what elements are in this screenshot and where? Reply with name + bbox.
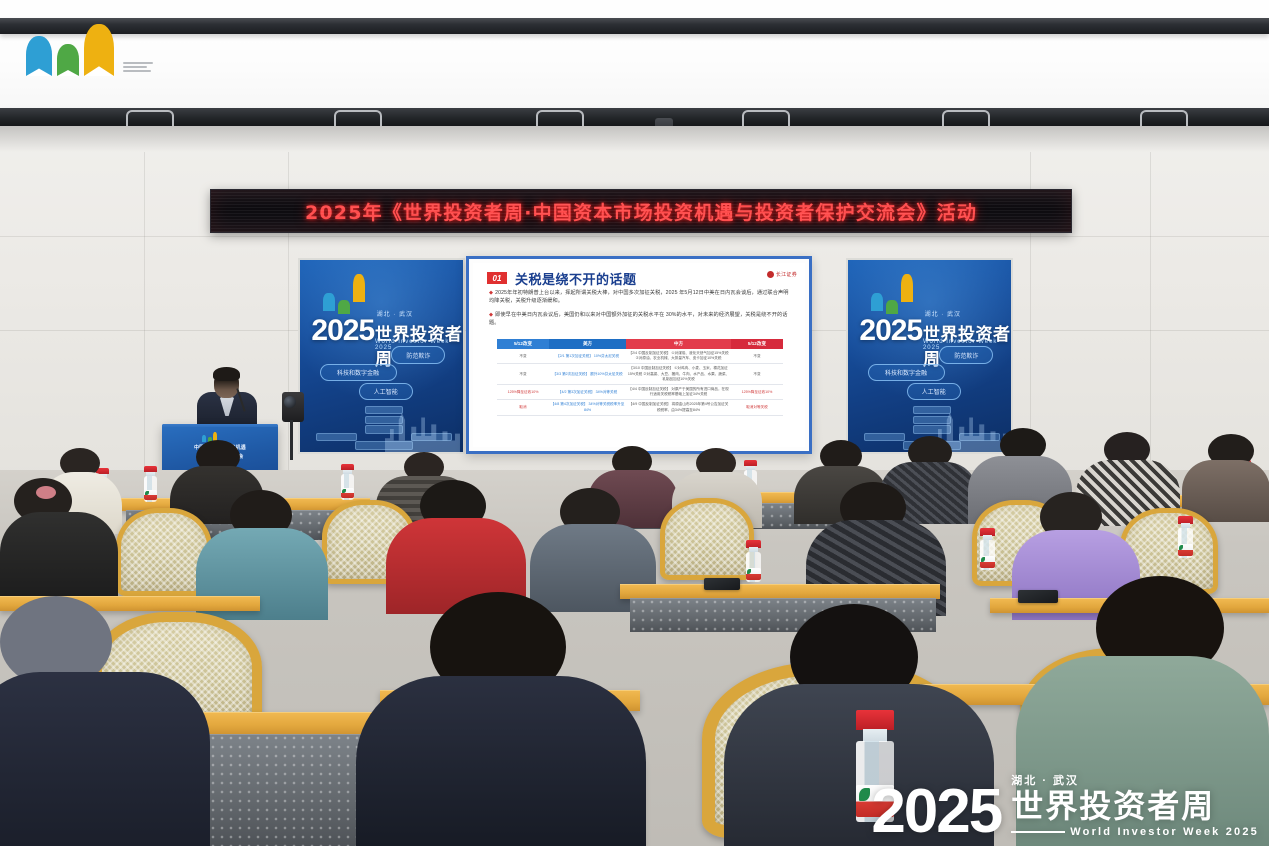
- slide-bullet-text: 即使早在中美日内瓦会议后，美国仍和以来对中国额外加征的关税水平在 30%的水平，…: [489, 312, 788, 326]
- camera-lens-icon: [284, 396, 296, 408]
- table-row: 取消【4/8 第4次加征关税】 34%对等关税税率升至84%【4/9 中国反制加…: [497, 400, 783, 415]
- slide-canvas: 01 关税是绕不开的话题 长江证券 ◆2025年年初特朗普上台以来，挥起所谓关税…: [473, 263, 805, 447]
- ceiling: [0, 0, 1269, 108]
- side-panel-pill: 科技和数字金融: [320, 364, 397, 381]
- table-cell: 【2/4 中国反制加征关税】 ①对煤炭、液化天然气加征15%关税 ②对原油、农业…: [626, 349, 731, 364]
- logo-pillar-blue-icon: [26, 36, 52, 76]
- conference-photo: 2025年《世界投资者周·中国资本市场投资机遇与投资者保护交流会》活动 湖北 ·…: [0, 0, 1269, 846]
- watermark-rule: [1011, 831, 1065, 833]
- table-col-header: 中方: [626, 339, 731, 349]
- conference-table: [188, 712, 388, 735]
- water-bottle: [144, 466, 157, 502]
- diamond-bullet-icon: ◆: [489, 290, 493, 296]
- table-cell: 不变: [731, 349, 783, 364]
- event-watermark: 2025 湖北 · 武汉 世界投资者周 World Investor Week …: [871, 772, 1259, 838]
- hair-clip-icon: [36, 486, 56, 499]
- table-cell: 【3/10 中国反制加征关税】 ①对鸡肉、小麦、玉米、棉花加征15%关税 ②对高…: [626, 364, 731, 385]
- table-cell: 【4/2 第3次加征关税】 34%对等关税: [549, 385, 626, 400]
- slide-comparison-table: 5/12改变 美方 中方 5/12改变 不变【2/1 第1次加征关税】 10%芬…: [497, 339, 783, 416]
- side-panel-pill: 人工智能: [907, 383, 961, 400]
- side-panel-pill: 防范欺诈: [939, 346, 993, 363]
- side-panel-year: 2025: [859, 316, 922, 346]
- brand-logo: [26, 24, 153, 76]
- water-bottle: [341, 464, 354, 500]
- watermark-text-group: 湖北 · 武汉 世界投资者周 World Investor Week 2025: [1011, 772, 1259, 838]
- wiw-logo-icon: [871, 270, 926, 301]
- bottle-body: [980, 540, 995, 570]
- water-bottle: [980, 528, 995, 570]
- ceiling-truss-lower: [0, 108, 1269, 126]
- side-panel-pill: 防范欺诈: [391, 346, 445, 363]
- table-cell: 不变: [497, 349, 549, 364]
- logo-pillar-green-icon: [57, 44, 79, 76]
- table-cell: 125%降至征收10%: [731, 385, 783, 400]
- slide-logo-text: 长江证券: [776, 271, 797, 278]
- table-col-header: 5/12改变: [731, 339, 783, 349]
- table-cell: 取消对等关税: [731, 400, 783, 415]
- table-row: 125%降至征收10%【4/2 第3次加征关税】 34%对等关税【4/4 中国反…: [497, 385, 783, 400]
- side-panel-pill: 人工智能: [359, 383, 413, 400]
- logo-dot-icon: [767, 271, 774, 278]
- side-panel-node: [864, 433, 905, 441]
- slide-title: 关税是绕不开的话题: [515, 269, 637, 288]
- side-display-left: 湖北 · 武汉 2025 世界投资者周 World Investor Week …: [298, 258, 465, 454]
- table-cell: 不变: [497, 364, 549, 385]
- speaker-hair: [213, 367, 240, 381]
- side-panel-location: 湖北 · 武汉: [925, 309, 961, 318]
- smartphone: [1018, 590, 1058, 603]
- table-cell: 取消: [497, 400, 549, 415]
- bottle-body: [341, 474, 354, 500]
- table-cell: 【4/4 中国反制加征关税】 对原产于美国的所有进口商品，在现行适用关税税率基础…: [626, 385, 731, 400]
- watermark-en-title: World Investor Week 2025: [1011, 826, 1259, 838]
- side-panel-node: [316, 433, 357, 441]
- bottle-body: [144, 476, 157, 502]
- logo-wordmark: [123, 62, 153, 76]
- table-col-header: 5/12改变: [497, 339, 549, 349]
- conference-table: [620, 584, 940, 599]
- attendee-body: [356, 676, 646, 846]
- brokerage-logo-icon: 长江证券: [767, 271, 797, 278]
- slide-bullet-text: 2025年年初特朗普上台以来，挥起所谓关税大棒，对中国多次加征关税，2025 年…: [489, 290, 789, 304]
- water-bottle: [1178, 516, 1193, 558]
- smartphone: [704, 578, 740, 590]
- watermark-en-text: World Investor Week 2025: [1070, 826, 1259, 838]
- bottle-cap: [856, 710, 894, 730]
- wall-seam: [1150, 152, 1151, 482]
- camera-tripod: [290, 420, 293, 460]
- led-banner-text: 2025年《世界投资者周·中国资本市场投资机遇与投资者保护交流会》活动: [305, 198, 977, 225]
- attendee-body: [0, 672, 210, 846]
- wall-seam: [144, 152, 145, 482]
- table-cell: 125%降至征收10%: [497, 385, 549, 400]
- slide-section-badge: 01: [487, 272, 507, 284]
- watermark-cn-title: 世界投资者周: [1011, 790, 1259, 822]
- bottle-body: [746, 552, 761, 582]
- table-cell: 【4/8 第4次加征关税】 34%对等关税税率升至84%: [549, 400, 626, 415]
- side-display-right: 湖北 · 武汉 2025 世界投资者周 World Investor Week …: [846, 258, 1013, 454]
- watermark-year: 2025: [871, 785, 1001, 838]
- skyline-icon: [385, 406, 460, 452]
- slide-bullet: ◆即使早在中美日内瓦会议后，美国仍和以来对中国额外加征的关税水平在 30%的水平…: [489, 311, 793, 327]
- diamond-bullet-icon: ◆: [489, 312, 493, 318]
- logo-pillar-yellow-icon: [84, 24, 114, 76]
- podium-top-edge: [162, 424, 278, 427]
- bottle-body: [1178, 528, 1193, 558]
- table-cell: 【4/9 中国反制加征关税】 将原金山布2025年第4号公告加征关税税率，由34…: [626, 400, 731, 415]
- table-header-row: 5/12改变 美方 中方 5/12改变: [497, 339, 783, 349]
- side-panel-pill: 科技和数字金融: [868, 364, 945, 381]
- table-cell: 【2/1 第1次加征关税】 10%芬太尼关税: [549, 349, 626, 364]
- side-panel-location: 湖北 · 武汉: [377, 309, 413, 318]
- banquet-chair: [660, 498, 754, 580]
- table-row: 不变【2/1 第1次加征关税】 10%芬太尼关税【2/4 中国反制加征关税】 ①…: [497, 349, 783, 364]
- wiw-logo-icon: [323, 270, 378, 301]
- ceiling-truss-upper: [0, 18, 1269, 34]
- slide-bullet: ◆2025年年初特朗普上台以来，挥起所谓关税大棒，对中国多次加征关税，2025 …: [489, 289, 793, 305]
- table-cell: 【3/3 第2次加征关税】 额外10%芬太尼关税: [549, 364, 626, 385]
- presentation-slide: 01 关税是绕不开的话题 长江证券 ◆2025年年初特朗普上台以来，挥起所谓关税…: [466, 256, 812, 454]
- watermark-location: 湖北 · 武汉: [1011, 772, 1259, 788]
- table-cell: 不变: [731, 364, 783, 385]
- attendee-body: [0, 512, 118, 598]
- water-bottle: [746, 540, 761, 582]
- table-col-header: 美方: [549, 339, 626, 349]
- side-panel-year: 2025: [311, 316, 374, 346]
- led-banner: 2025年《世界投资者周·中国资本市场投资机遇与投资者保护交流会》活动: [210, 189, 1072, 233]
- wall-top-shadow: [0, 126, 1269, 152]
- wall-seam: [0, 236, 1269, 237]
- table-row: 不变【3/3 第2次加征关税】 额外10%芬太尼关税【3/10 中国反制加征关税…: [497, 364, 783, 385]
